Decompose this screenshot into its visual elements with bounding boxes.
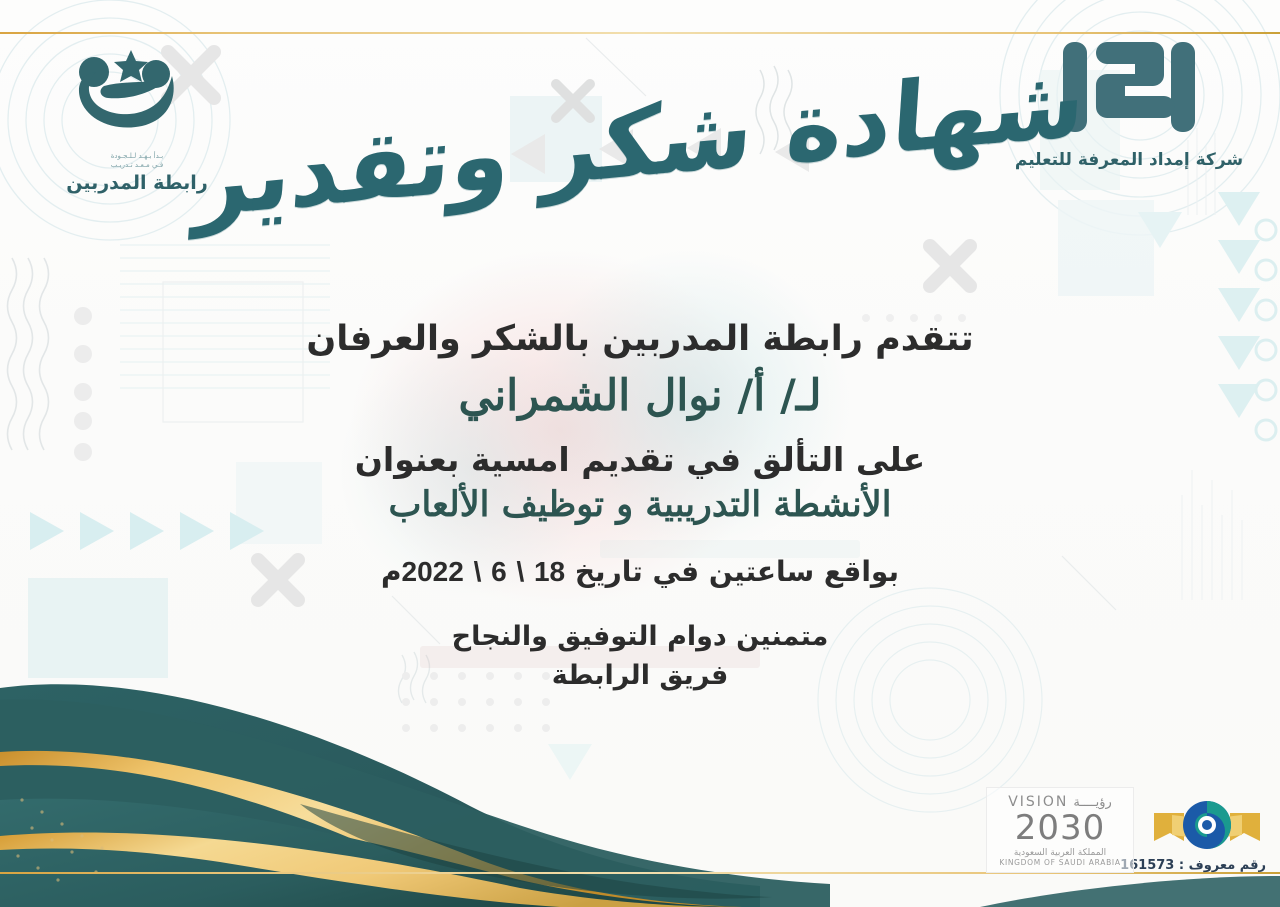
date-suffix: م xyxy=(381,555,402,588)
certificate-title-text: شهادة شكر وتقدير xyxy=(191,27,1090,258)
corner-teal-bottom-right xyxy=(980,876,1280,907)
ribbon-seal-icon xyxy=(1150,799,1264,853)
logo-left-subtext: بـدأ بـهـد لـلـجـودة فـي مـعـد تـدريـب xyxy=(22,152,252,170)
triangle-row-title xyxy=(511,128,809,174)
logo-left: بـدأ بـهـد لـلـجـودة فـي مـعـد تـدريـب ر… xyxy=(22,42,252,194)
vision-year: 2030 xyxy=(1015,811,1106,845)
duration-prefix: بواقع ساعتين في تاريخ xyxy=(575,555,899,588)
date-day: 18 xyxy=(534,556,565,587)
accreditation-number-line: رقم معروف : 161573 xyxy=(1148,858,1266,873)
body-line-3: على التألق في تقديم امسية بعنوان xyxy=(0,440,1280,480)
date-year: 2022 xyxy=(402,556,464,587)
isi-wordmark-icon xyxy=(1049,34,1209,140)
event-title: الأنشطة التدريبية و توظيف الألعاب xyxy=(0,484,1280,527)
certificate-canvas: بـدأ بـهـد لـلـجـودة فـي مـعـد تـدريـب ر… xyxy=(0,0,1280,907)
accreditation-label: رقم معروف : xyxy=(1179,858,1266,873)
date-sep-2: \ xyxy=(474,556,482,587)
logo-left-caption: رابطة المدربين xyxy=(22,172,252,194)
certificate-body: تتقدم رابطة المدربين بالشكر والعرفان لـ/… xyxy=(0,318,1280,693)
closing-line-2: فريق الرابطة xyxy=(0,660,1280,693)
body-line-1: تتقدم رابطة المدربين بالشكر والعرفان xyxy=(0,318,1280,361)
x-mark-small xyxy=(556,84,590,118)
date-sep-1: \ xyxy=(516,556,524,587)
vision-kingdom-ar: المملكة العربية السعودية xyxy=(991,848,1129,858)
closing-line-1: متمنين دوام التوفيق والنجاح xyxy=(0,621,1280,654)
wavy-lines-center xyxy=(756,66,792,154)
date-month: 6 xyxy=(491,556,507,587)
recipient-name: لـ/ أ/ نوال الشمراني xyxy=(0,370,1280,422)
accreditation-badge: رقم معروف : 161573 xyxy=(1148,799,1266,873)
logo-right-caption: شركة إمداد المعرفة للتعليم xyxy=(1004,150,1254,170)
vision-2030-logo: VISION رؤيــــة 2030 المملكة العربية الس… xyxy=(986,787,1134,873)
logo-right: شركة إمداد المعرفة للتعليم xyxy=(1004,34,1254,170)
duration-date-line: بواقع ساعتين في تاريخ 18 \ 6 \ 2022م xyxy=(0,555,1280,589)
vision-year-row: 2030 xyxy=(991,811,1129,845)
footer-badges: رقم معروف : 161573 VISION رؤيــــة 2030 … xyxy=(986,787,1266,873)
vision-kingdom-en: KINGDOM OF SAUDI ARABIA xyxy=(991,858,1129,867)
taa-star-monogram-icon xyxy=(52,42,222,146)
